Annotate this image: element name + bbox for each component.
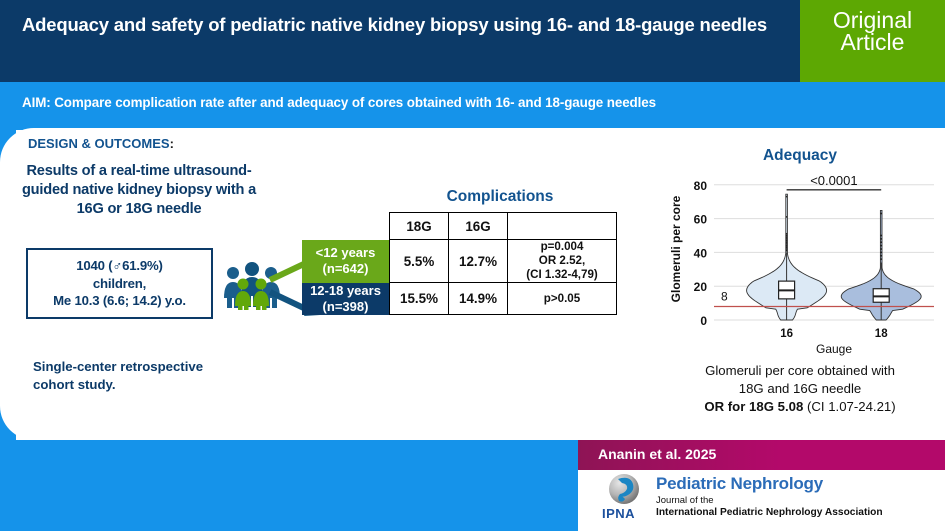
study-description: Results of a real-time ultrasound- guide… xyxy=(8,162,270,219)
row-label-12to18: 12-18 years (n=398) xyxy=(302,283,390,315)
chart-caption: Glomeruli per core obtained with 18G and… xyxy=(655,362,945,416)
adequacy-violin-chart: 020406080Glomeruli per core16188<0.0001G… xyxy=(666,168,941,358)
svg-text:0: 0 xyxy=(700,314,707,328)
table-row: <12 years (n=642) 5.5% 12.7% p=0.004 OR … xyxy=(302,240,617,283)
svg-text:20: 20 xyxy=(694,280,708,294)
svg-text:60: 60 xyxy=(694,213,708,227)
col-header-16g: 16G xyxy=(449,213,508,240)
chart-caption-ci: (CI 1.07-24.21) xyxy=(803,399,895,414)
globe-sphere-icon xyxy=(604,472,646,508)
cell-12to18-18g: 15.5% xyxy=(390,283,449,315)
chart-title: Adequacy xyxy=(700,147,900,165)
row-label-under12-line2: (n=642) xyxy=(302,261,389,277)
chart-caption-line3: OR for 18G 5.08 (CI 1.07-24.21) xyxy=(655,398,945,416)
study-design-note: Single-center retrospective cohort study… xyxy=(33,358,283,394)
article-type-badge: Original Article xyxy=(800,0,945,82)
study-description-line3: 16G or 18G needle xyxy=(8,200,270,219)
table-corner-cell xyxy=(302,213,390,240)
study-design-line1: Single-center retrospective xyxy=(33,358,283,376)
cell-12to18-16g: 14.9% xyxy=(449,283,508,315)
cell-under12-stats-line1: p=0.004 xyxy=(508,240,616,254)
chart-caption-or: OR for 18G 5.08 xyxy=(704,399,803,414)
chart-caption-line1: Glomeruli per core obtained with xyxy=(655,362,945,380)
complications-title: Complications xyxy=(400,188,600,206)
svg-text:18: 18 xyxy=(875,328,888,340)
page-title: Adequacy and safety of pediatric native … xyxy=(22,12,782,37)
journal-sub2: International Pediatric Nephrology Assoc… xyxy=(656,507,883,518)
cell-under12-18g: 5.5% xyxy=(390,240,449,283)
row-label-under12: <12 years (n=642) xyxy=(302,240,390,283)
article-type-line2: Article xyxy=(800,30,945,55)
study-description-line1: Results of a real-time ultrasound- xyxy=(8,162,270,181)
cohort-line1: 1040 (♂61.9%) xyxy=(28,257,211,275)
aim-body: Compare complication rate after and adeq… xyxy=(51,95,656,110)
design-outcomes-colon: : xyxy=(170,136,174,151)
cohort-text: 1040 (♂61.9%) children, Me 10.3 (6.6; 14… xyxy=(28,257,211,310)
svg-text:80: 80 xyxy=(694,179,708,193)
cohort-line3: Me 10.3 (6.6; 14.2) y.o. xyxy=(28,292,211,310)
svg-text:<0.0001: <0.0001 xyxy=(810,173,857,188)
cell-under12-stats-line2: OR 2.52, xyxy=(508,254,616,268)
svg-text:40: 40 xyxy=(694,246,708,260)
cell-under12-stats-line3: (CI 1.32-4,79) xyxy=(508,268,616,282)
table-header-row: 18G 16G xyxy=(302,213,617,240)
graphical-abstract: Adequacy and safety of pediatric native … xyxy=(0,0,945,531)
design-outcomes-heading: DESIGN & OUTCOMES: xyxy=(28,136,174,151)
ipna-label: IPNA xyxy=(602,506,635,521)
design-outcomes-label: DESIGN & OUTCOMES xyxy=(28,136,170,151)
col-header-18g: 18G xyxy=(390,213,449,240)
aim-label: AIM: xyxy=(22,95,51,110)
study-design-line2: cohort study. xyxy=(33,376,283,394)
citation-bar: Ananin et al. 2025 xyxy=(578,440,945,470)
row-label-under12-line1: <12 years xyxy=(302,245,389,261)
cell-under12-stats: p=0.004 OR 2.52, (CI 1.32-4,79) xyxy=(508,240,617,283)
study-description-line2: guided native kidney biopsy with a xyxy=(8,181,270,200)
svg-text:16: 16 xyxy=(780,328,793,340)
cohort-line2: children, xyxy=(28,275,211,293)
svg-text:Glomeruli per core: Glomeruli per core xyxy=(669,195,683,302)
row-label-12to18-line2: (n=398) xyxy=(302,299,389,315)
table-row: 12-18 years (n=398) 15.5% 14.9% p>0.05 xyxy=(302,283,617,315)
cell-under12-16g: 12.7% xyxy=(449,240,508,283)
citation-text: Ananin et al. 2025 xyxy=(598,446,716,462)
cohort-box: 1040 (♂61.9%) children, Me 10.3 (6.6; 14… xyxy=(26,248,213,319)
svg-text:8: 8 xyxy=(721,289,728,303)
aim-text: AIM: Compare complication rate after and… xyxy=(22,95,656,110)
chart-caption-line2: 18G and 16G needle xyxy=(655,380,945,398)
row-label-12to18-line1: 12-18 years xyxy=(302,283,389,299)
aim-bar: AIM: Compare complication rate after and… xyxy=(0,82,945,130)
complications-table: 18G 16G <12 years (n=642) 5.5% 12.7% p=0… xyxy=(302,212,617,315)
journal-name: Pediatric Nephrology xyxy=(656,474,823,494)
svg-text:Gauge: Gauge xyxy=(816,342,852,356)
journal-sub1: Journal of the xyxy=(656,495,714,506)
cell-12to18-stats: p>0.05 xyxy=(508,283,617,315)
col-header-stats xyxy=(508,213,617,240)
journal-footer: IPNA Pediatric Nephrology Journal of the… xyxy=(578,470,945,531)
